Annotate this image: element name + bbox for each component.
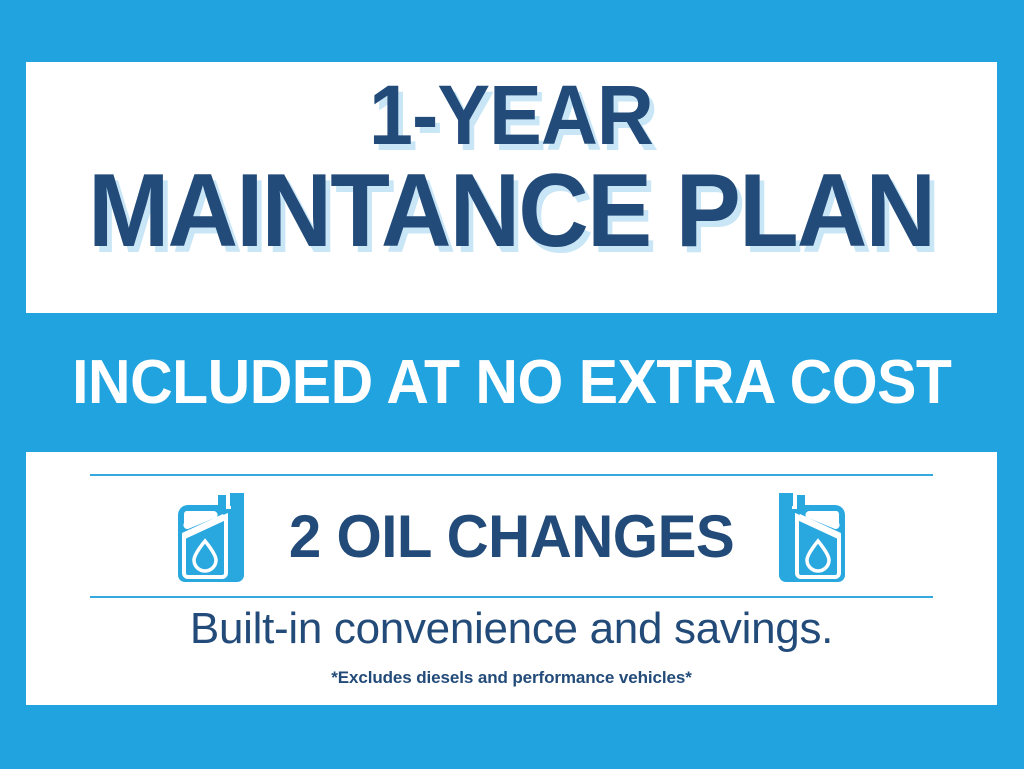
headline-panel: 1-YEAR MAINTANCE PLAN: [26, 62, 997, 313]
oil-jug-icon-right: [775, 489, 849, 583]
promo-poster: 1-YEAR MAINTANCE PLAN INCLUDED AT NO EXT…: [0, 0, 1024, 769]
divider-bottom: [90, 596, 933, 598]
fineprint-disclaimer: *Excludes diesels and performance vehicl…: [26, 668, 997, 688]
subtitle-text: INCLUDED AT NO EXTRA COST: [72, 347, 951, 418]
offer-row: 2 OIL CHANGES: [26, 476, 997, 596]
subtitle-band: INCLUDED AT NO EXTRA COST: [0, 313, 1024, 452]
tagline: Built-in convenience and savings.: [26, 604, 997, 654]
headline-line-1: 1-YEAR: [370, 76, 654, 155]
offer-panel: 2 OIL CHANGES Built-in convenience and s…: [26, 452, 997, 705]
headline-line-2: MAINTANCE PLAN: [88, 163, 934, 261]
offer-label: 2 OIL CHANGES: [289, 502, 734, 571]
oil-jug-icon-left: [174, 489, 248, 583]
